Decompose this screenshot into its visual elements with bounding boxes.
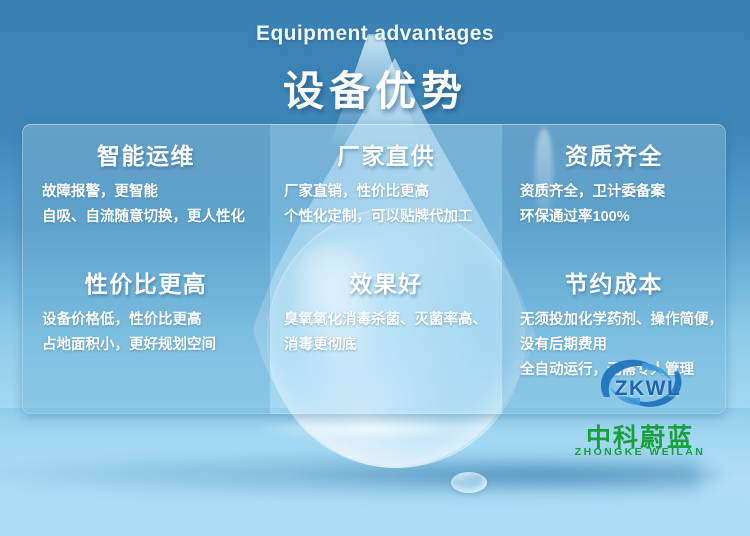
card-line: 无须投加化学药剂、操作简便， bbox=[520, 308, 726, 333]
card-line: 消毒更彻底 bbox=[284, 333, 502, 358]
poster-canvas: Equipment advantages 设备优势 智能运维 故障报警，更智能 … bbox=[0, 0, 750, 536]
logo-wordmark: ZKWL bbox=[600, 377, 696, 401]
advantage-card-cost-performance[interactable]: 性价比更高 设备价格低，性价比更高 占地面积小，更好规划空间 bbox=[26, 272, 266, 358]
advantage-card-good-effect[interactable]: 效果好 臭氧氧化消毒杀菌、灭菌率高、 消毒更彻底 bbox=[270, 272, 502, 358]
small-water-droplet-icon bbox=[451, 472, 487, 493]
page-title: 设备优势 bbox=[0, 57, 750, 117]
card-line: 故障报警，更智能 bbox=[42, 180, 266, 205]
card-title: 资质齐全 bbox=[502, 144, 726, 169]
droplet-base-shine bbox=[262, 418, 492, 440]
brand-logo[interactable]: ZKWL bbox=[586, 355, 698, 411]
card-title: 智能运维 bbox=[26, 144, 266, 169]
card-title: 性价比更高 bbox=[26, 272, 266, 297]
advantage-card-full-qualification[interactable]: 资质齐全 资质齐全，卫计委备案 环保通过率100% bbox=[502, 144, 726, 230]
company-name-pinyin: ZHONGKE WEILAN bbox=[550, 446, 730, 458]
advantage-card-smart-ops[interactable]: 智能运维 故障报警，更智能 自吸、自流随意切换，更人性化 bbox=[26, 144, 266, 230]
card-line: 资质齐全，卫计委备案 bbox=[520, 180, 726, 205]
advantage-card-factory-direct[interactable]: 厂家直供 厂家直销，性价比更高 个性化定制，可以贴牌代加工 bbox=[270, 144, 502, 230]
card-line: 厂家直销，性价比更高 bbox=[284, 180, 502, 205]
card-title: 效果好 bbox=[270, 272, 502, 297]
card-line: 环保通过率100% bbox=[520, 205, 726, 230]
card-line: 占地面积小，更好规划空间 bbox=[42, 333, 266, 358]
card-line: 设备价格低，性价比更高 bbox=[42, 308, 266, 333]
card-line: 自吸、自流随意切换，更人性化 bbox=[42, 205, 266, 230]
card-title: 节约成本 bbox=[502, 272, 726, 297]
card-title: 厂家直供 bbox=[270, 144, 502, 169]
card-line: 臭氧氧化消毒杀菌、灭菌率高、 bbox=[284, 308, 502, 333]
card-line: 个性化定制，可以贴牌代加工 bbox=[284, 205, 502, 230]
page-subtitle-english: Equipment advantages bbox=[0, 22, 750, 46]
